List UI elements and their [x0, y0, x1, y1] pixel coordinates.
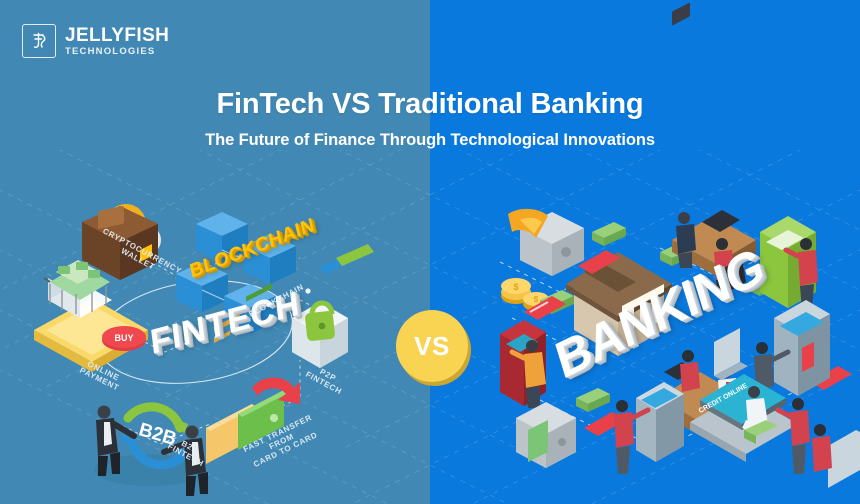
svg-text:$: $	[534, 295, 539, 304]
banner-root: JELLYFISH TECHNOLOGIES FinTech VS Tradit…	[0, 0, 860, 504]
svg-text:$: $	[513, 282, 518, 292]
safe-gold-icon	[508, 209, 584, 276]
vault-safe-icon	[516, 402, 576, 468]
vs-badge: VS	[396, 310, 468, 382]
mobile-banking-icon	[614, 382, 684, 504]
cashier-desk-icon	[812, 424, 860, 488]
vs-label: VS	[414, 331, 450, 362]
